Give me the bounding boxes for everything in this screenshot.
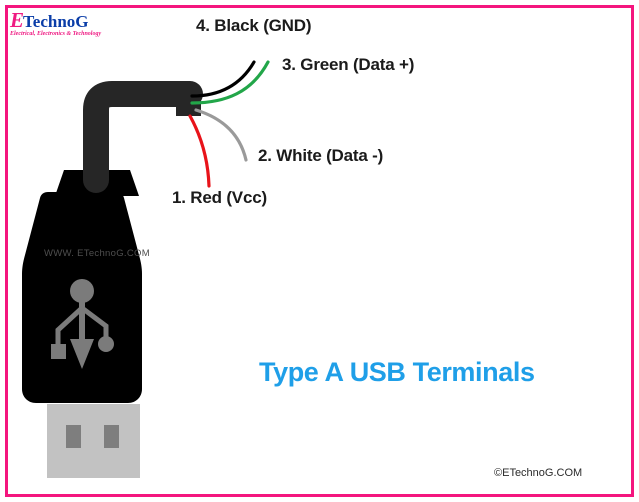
copyright-text: ©ETechnoG.COM: [494, 467, 582, 479]
wire-label-green: 3. Green (Data +): [282, 55, 414, 75]
logo-wordmark: ETechnoG: [10, 12, 120, 30]
usb-cable: [96, 94, 190, 180]
logo-name: TechnoG: [23, 12, 89, 31]
etechnog-logo: ETechnoG Electrical, Electronics & Techn…: [10, 12, 120, 42]
usb-plug-metal: [47, 404, 140, 478]
watermark-text: WWW. ETechnoG.COM: [44, 248, 150, 259]
wire-label-black: 4. Black (GND): [196, 16, 311, 36]
wire-red-vcc: [190, 116, 209, 186]
logo-tagline: Electrical, Electronics & Technology: [10, 31, 120, 38]
logo-initial: E: [10, 8, 23, 32]
usb-plug-slot-left: [66, 425, 81, 448]
usb-terminals-diagram: ETechnoG Electrical, Electronics & Techn…: [0, 0, 639, 502]
diagram-title: Type A USB Terminals: [259, 357, 535, 388]
wire-label-white: 2. White (Data -): [258, 146, 383, 166]
usb-plug-slot-right: [104, 425, 119, 448]
wire-label-red: 1. Red (Vcc): [172, 188, 267, 208]
